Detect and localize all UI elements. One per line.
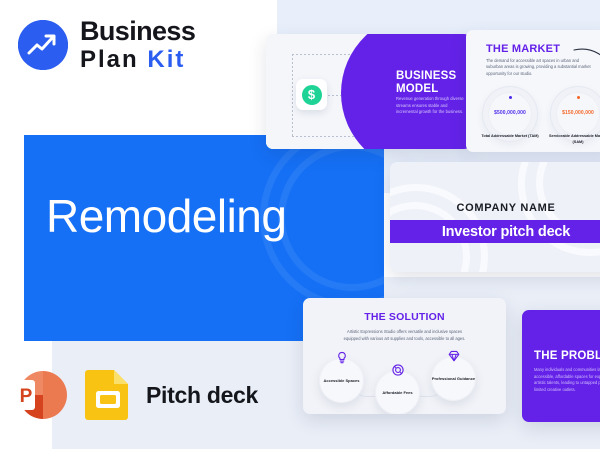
slide-title-business-model: BUSINESS MODEL [396, 70, 468, 96]
diamond-icon [447, 349, 461, 363]
curved-arrow-icon [572, 46, 600, 80]
slide-solution[interactable]: THE SOLUTION Artistic Expressions Studio… [303, 298, 506, 414]
brand-line-business: Business [80, 18, 195, 45]
brand-logo: Business Plan Kit [18, 18, 195, 72]
growth-arrow-icon [18, 20, 68, 70]
google-slides-icon [84, 368, 132, 422]
slide-body-business-model: Revenue generation through diverse strea… [396, 96, 464, 116]
solution-pillar[interactable]: Affordable Fees [375, 370, 420, 414]
lightbulb-icon [335, 351, 349, 365]
coin-icon [391, 363, 405, 377]
solution-pillar-label: Affordable Fees [382, 390, 412, 396]
dollar-icon: $ [296, 79, 327, 110]
metric-value-tam: $500,000,000 [482, 110, 538, 116]
svg-text:P: P [20, 386, 33, 407]
solution-pillar[interactable]: Professional Guidance [431, 356, 476, 401]
file-format-bar: P Pitch deck [16, 368, 258, 422]
slide-title-cover[interactable]: COMPANY NAME Investor pitch deck [390, 162, 600, 272]
file-format-label: Pitch deck [146, 382, 258, 409]
brand-word-plan: Plan [80, 46, 139, 73]
solution-pillar[interactable]: Accessible Spaces [319, 358, 364, 403]
solution-pillar-label: Accessible Spaces [323, 378, 359, 384]
connector-line [292, 54, 293, 136]
brand-line-plan-kit: Plan Kit [80, 48, 195, 72]
metric-value-sam: $150,000,000 [550, 110, 600, 116]
slide-title-market: THE MARKET [486, 43, 560, 55]
slide-body-solution: Artistic Expressions Studio offers versa… [341, 329, 468, 342]
brand-word-kit: Kit [147, 46, 185, 73]
poster-canvas: Business Plan Kit Remodeling $ Drop-in F… [0, 0, 600, 449]
solution-pillar-label: Professional Guidance [432, 376, 475, 382]
powerpoint-icon: P [16, 368, 70, 422]
gauge-marker [509, 96, 512, 99]
slide-problem[interactable]: THE PROBLEM Many individuals and communi… [522, 310, 600, 422]
slide-business-model[interactable]: $ Drop-in Fees Session Workshops Commiss… [266, 34, 471, 149]
slide-body-problem: Many individuals and communities lack ac… [534, 367, 600, 393]
slide-title-solution: THE SOLUTION [303, 311, 506, 323]
brand-wordmark: Business Plan Kit [80, 18, 195, 72]
subtitle-text: Investor pitch deck [442, 224, 570, 240]
dollar-symbol: $ [302, 85, 322, 105]
company-name-text: COMPANY NAME [390, 202, 600, 214]
metric-caption-sam: Serviceable Addressable Market (SAM) [543, 134, 600, 145]
slide-title-problem: THE PROBLEM [534, 350, 600, 362]
gauge-marker [577, 96, 580, 99]
page-title: Remodeling [46, 193, 286, 239]
slide-market[interactable]: THE MARKET The demand for accessible art… [466, 30, 600, 152]
subtitle-bar: Investor pitch deck [390, 220, 600, 243]
metric-caption-tam: Total Addressable Market (TAM) [475, 134, 545, 140]
